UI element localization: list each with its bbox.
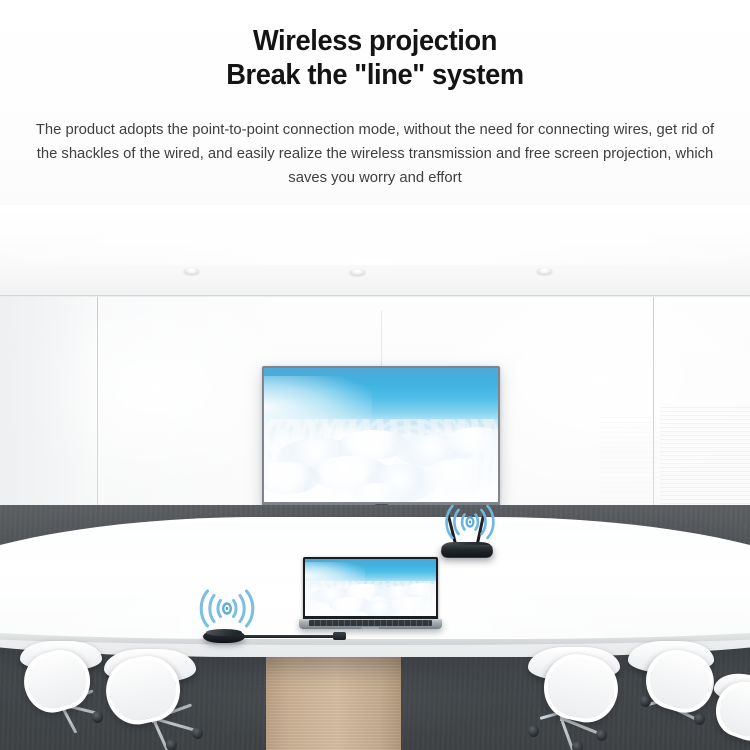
router-body: [440, 545, 494, 558]
text-banner: Wireless projection Break the "line" sys…: [0, 0, 750, 205]
laptop[interactable]: [299, 557, 442, 632]
page-description: The product adopts the point-to-point co…: [29, 118, 721, 190]
dongle-plug: [333, 632, 346, 640]
wifi-waves-icon: [196, 585, 258, 631]
laptop-screen: [305, 559, 436, 616]
chair-caster: [596, 729, 607, 741]
wifi-waves-icon: [441, 501, 499, 543]
table-and-floor: [0, 205, 750, 750]
laptop-trackpad[interactable]: [361, 627, 379, 629]
chair-caster: [694, 713, 705, 725]
laptop-lid: [303, 557, 438, 619]
chair-caster: [572, 741, 583, 750]
chair-caster: [528, 725, 539, 737]
chair-caster: [92, 711, 103, 723]
page-title: Wireless projection Break the "line" sys…: [23, 24, 728, 92]
headline-line-2: Break the "line" system: [23, 58, 728, 92]
conference-room-photo: [0, 205, 750, 750]
chair-caster: [192, 727, 203, 739]
chair-caster: [166, 739, 177, 750]
dongle-cable: [243, 635, 339, 638]
headline-line-1: Wireless projection: [253, 25, 497, 57]
laptop-keyboard[interactable]: [309, 620, 432, 626]
laptop-sky-image: [305, 559, 436, 616]
